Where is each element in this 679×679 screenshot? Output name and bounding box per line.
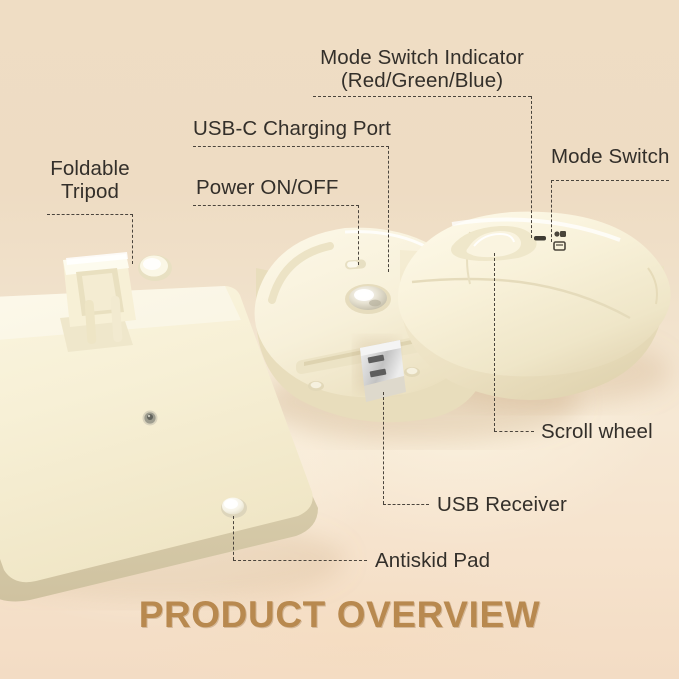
callout-label-usb-receiver: USB Receiver [437,493,567,516]
receiver-bay-inner [304,333,446,366]
leader-antiskid-h [233,560,367,561]
leader-usb-receiver-h [383,504,429,505]
ambient-glow-left [0,300,380,630]
product-overview-image: Mode Switch Indicator (Red/Green/Blue) U… [0,0,679,679]
leader-power-h [193,205,359,206]
leader-mode-switch-indicator-h [313,96,531,97]
mode-switch-indicator-subtitle: (Red/Green/Blue) [313,69,531,92]
dongle-body [360,340,404,386]
mode-switch-bt-icon [554,231,559,236]
power-switch [345,259,367,269]
callout-label-scroll-wheel: Scroll wheel [541,420,653,443]
foldable-tripod-line-1: Foldable [40,157,140,180]
callout-label-usb-c-charging-port: USB-C Charging Port [193,117,391,140]
leader-tripod-h [47,214,133,215]
tablet-edge [0,300,318,602]
leader-usb-c-v [388,146,389,272]
wireless-mouse-top-view [398,212,671,400]
mouse-foot-pad-right-inner [407,368,418,374]
leader-mode-switch-indicator-v [531,96,532,238]
mode-switch-device-icon [554,242,565,250]
mode-switch-indicator-title: Mode Switch Indicator [313,46,531,69]
leader-tripod-v [132,214,133,264]
dongle-base [364,376,406,402]
callout-label-foldable-tripod: Foldable Tripod [40,157,140,203]
drawing-tablet [0,252,318,602]
wireless-mouse-bottom-view [255,228,489,423]
leader-scroll-wheel-h [494,431,534,432]
optical-sensor [345,284,391,314]
mode-switch [554,231,566,250]
dongle-slot-1 [368,355,385,364]
callout-label-antiskid-pad: Antiskid Pad [375,549,490,572]
dongle-shadow [356,339,398,391]
tablet-round-button [138,255,172,281]
leader-antiskid-v [233,516,234,560]
leader-mode-switch-v [551,180,552,242]
tripod-top-bevel [63,254,129,275]
leader-usb-c-h [193,146,389,147]
tripod-leg-right [110,296,122,343]
callout-label-power-on-off: Power ON/OFF [196,176,338,199]
mouse-battery-door-arc [272,246,330,300]
receiver-bay-slot [296,330,456,374]
mouse-grip-line [648,268,657,304]
foldable-tripod-line-2: Tripod [40,180,140,203]
dongle-slot-2 [370,369,387,378]
leader-scroll-wheel-v [494,253,495,431]
mouse-left-button-seam [467,232,470,284]
mouse-top-side [400,250,664,400]
tripod-leg-left [84,300,96,345]
mouse-button-split [412,279,630,318]
leader-mode-switch-h [551,180,669,181]
usb-receiver-dongle [356,339,406,402]
mouse-foot-pad-left [308,381,324,391]
mouse-bottom-rim-highlight [345,232,475,342]
mouse-top-shell [398,212,671,377]
mouse-bottom-face [255,228,482,398]
mouse-bottom-side [256,268,489,422]
mouse-top-gloss [452,220,620,240]
dongle-top [360,340,401,356]
leader-usb-receiver-v [383,392,384,504]
callout-label-mode-switch: Mode Switch [551,145,669,168]
mouse-bottom-shadow [260,362,580,442]
tablet-top-face [0,286,313,582]
tablet-sheen [0,286,241,345]
mode-switch-indicator-led [534,236,546,241]
mouse-foot-pad-right [404,367,420,377]
product-artwork [0,0,679,679]
mouse-screw-top-head [443,314,448,319]
usb-c-charging-port [418,264,441,282]
tripod-highlight [66,252,128,265]
callout-label-mode-switch-indicator: Mode Switch Indicator (Red/Green/Blue) [313,46,531,92]
mode-switch-dot-icon [560,231,566,237]
tablet-screw [143,411,158,426]
tripod-inner-face [82,273,118,312]
tripod-body [63,254,136,327]
antiskid-pad [221,498,247,518]
leader-power-v [358,205,359,265]
mouse-screw-top [439,313,453,322]
page-title: PRODUCT OVERVIEW [0,594,679,636]
foldable-tripod [60,252,136,352]
tripod-base [60,312,133,352]
mouse-foot-pad-left-inner [311,382,322,388]
mouse-top-shadow [410,336,670,408]
tripod-inner [76,268,124,316]
